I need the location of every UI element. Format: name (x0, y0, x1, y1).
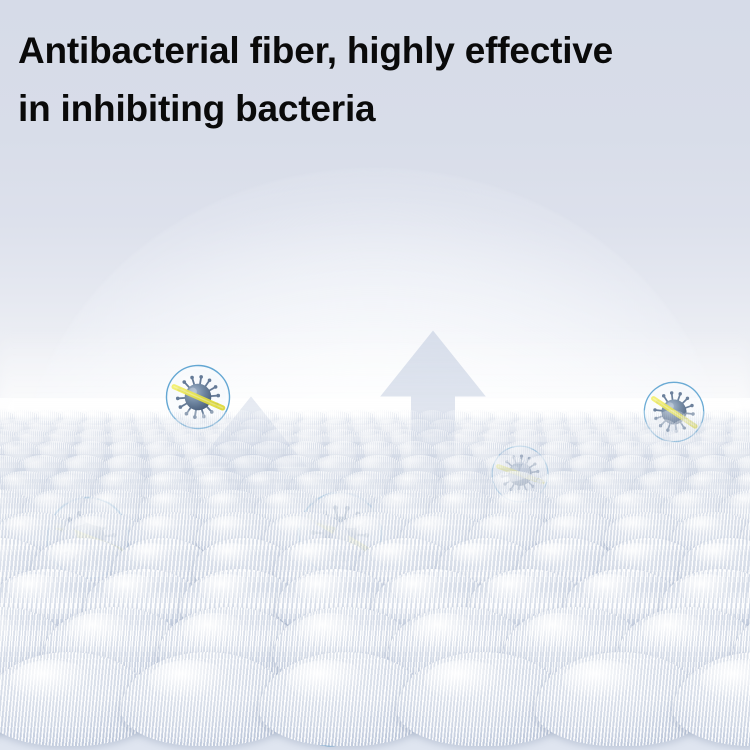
fabric-surface (0, 398, 750, 750)
banner-image: Antibacterial fiber, highly effective in… (0, 0, 750, 750)
cropped-top-text (0, 0, 750, 7)
page-title: Antibacterial fiber, highly effective in… (18, 22, 734, 138)
